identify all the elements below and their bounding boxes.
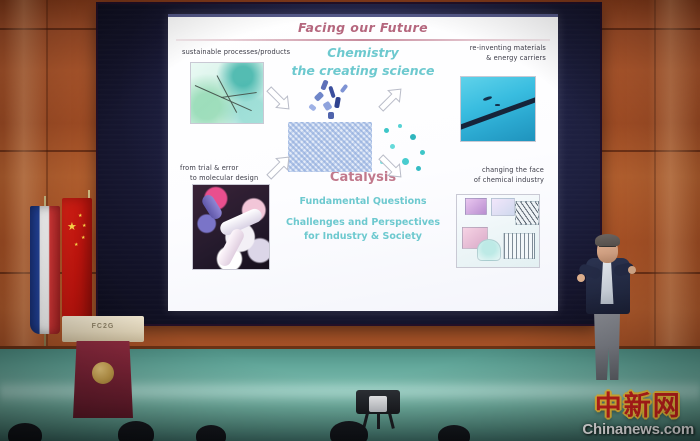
molecule-dot [308,103,317,111]
molecule-dot [328,112,334,119]
star-icon: ★ [74,243,78,248]
flag-france [30,206,60,334]
lectern-emblem [92,362,114,384]
molecule-dot [334,97,341,109]
audience-head [438,425,470,441]
speaker-presenter [578,232,638,380]
spray-dot [390,144,395,149]
star-icon: ★ [78,214,82,219]
star-icon: ★ [67,222,77,233]
industry-thumb [477,239,501,261]
arrow-up-right-icon [373,81,410,118]
image-pharmaceuticals [192,184,270,270]
audience-head [8,423,42,441]
molecule-dot [322,101,332,111]
star-icon: ★ [81,236,85,241]
lectern-top: FC2G [62,316,144,342]
lectern-logo-text: FC2G [62,323,144,330]
molecule-dot [340,84,349,94]
industry-thumb [515,201,539,225]
molecule-dot [328,86,336,99]
spray-dot [416,166,421,171]
heading-line-1: Chemistry [268,44,458,62]
speaker-legs [592,304,622,380]
audience-head [118,421,154,441]
speaker-right-hand [628,266,636,274]
bullet-line-2: Challenges and Perspectives [268,216,458,230]
audience-head [330,421,368,441]
wave-fleck [483,96,492,102]
camera-lens [369,396,387,412]
arrow-up-left-icon [261,81,298,118]
industry-thumb [465,198,487,215]
photo-scene: Facing our Future sustainable processes/… [0,0,700,441]
molecule-dot [314,91,325,102]
image-chemical-industry [456,194,540,268]
slide-center-heading: Chemistry the creating science [268,44,458,80]
molecule-cluster-graphic [304,78,362,126]
molecule-dot [320,79,328,90]
video-camera [352,388,404,428]
catalyst-surface-graphic [288,122,372,172]
image-sustainable-processes [190,62,264,124]
slide-top-border [168,14,558,17]
star-icon: ★ [82,224,86,229]
presentation-slide: Facing our Future sustainable processes/… [168,14,558,311]
bullet-line-3: for Industry & Society [268,230,458,244]
lectern: FC2G [62,316,144,418]
spray-dot [398,124,402,128]
watermark: 中新网 Chinanews.com [582,393,694,437]
speaker-left-hand [577,274,585,282]
spray-dot [410,134,416,140]
image-energy-carriers [460,76,536,142]
spray-dot [420,150,425,155]
audience-head [196,425,226,441]
tripod-leg [377,413,380,429]
capsule [216,227,246,268]
bullet-challenges: Challenges and Perspectives for Industry… [268,216,458,245]
wave-bar [460,95,536,130]
spray-dot [384,128,389,133]
projection-screen: Facing our Future sustainable processes/… [98,4,600,324]
watermark-latin: Chinanews.com [582,422,694,437]
industry-thumb [503,233,535,259]
bullet-fundamental-questions: Fundamental Questions [268,196,458,207]
industry-thumb [491,198,515,216]
slide-title: Facing our Future [168,20,558,35]
heading-line-2: the creating science [268,62,458,80]
wave-fleck [495,104,500,106]
flag-china: ★ ★ ★ ★ ★ [62,198,92,330]
capsule [200,193,224,221]
tripod-leg [388,413,395,429]
watermark-chinese: 中新网 [582,393,694,420]
speaker-glasses [599,246,616,250]
title-divider [176,39,550,41]
